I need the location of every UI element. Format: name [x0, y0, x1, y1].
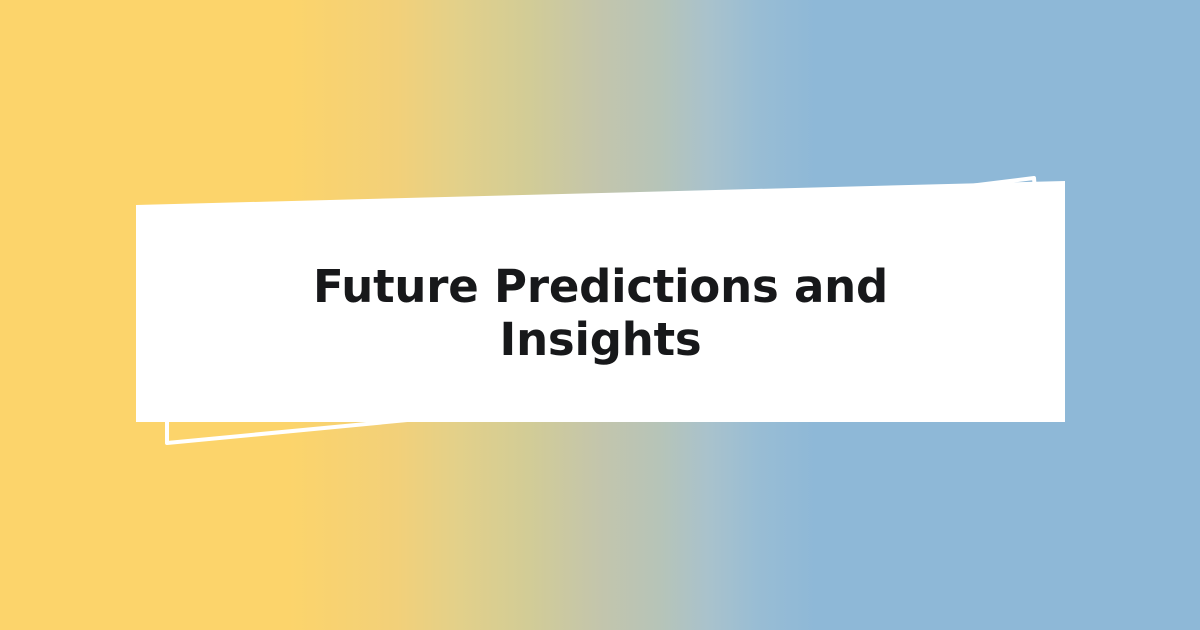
page-title: Future Predictions and Insights: [296, 261, 906, 365]
slide-canvas: Future Predictions and Insights: [0, 0, 1200, 630]
title-container: Future Predictions and Insights: [136, 205, 1065, 422]
